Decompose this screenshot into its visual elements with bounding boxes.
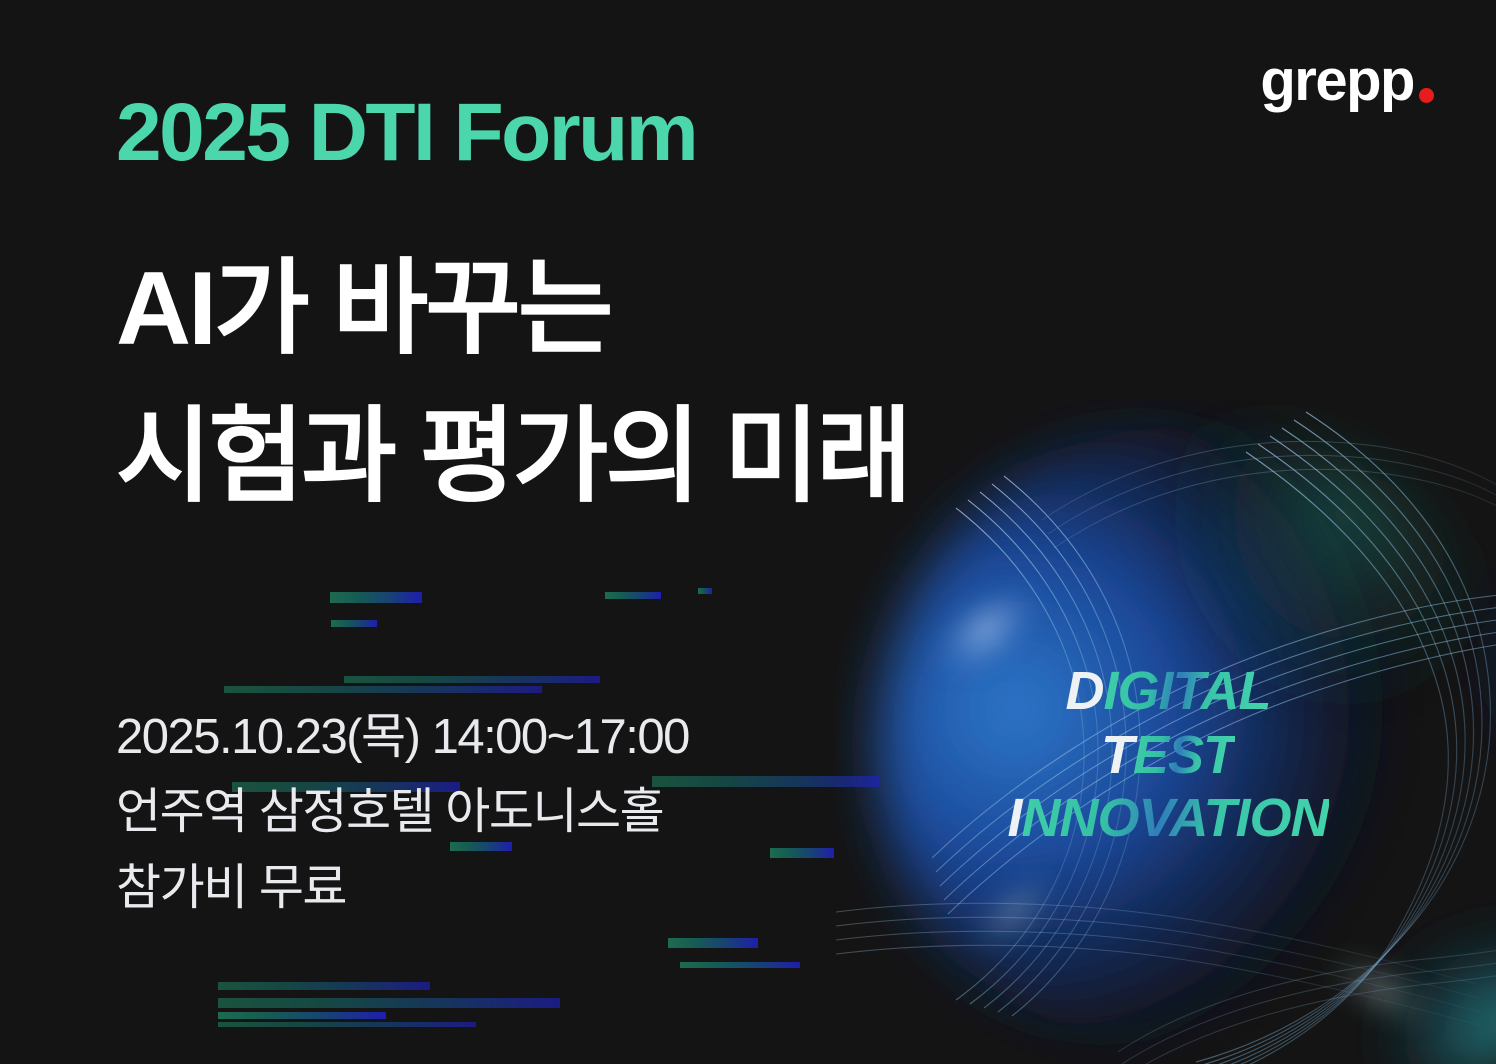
data-streak: [605, 592, 661, 599]
tagline-rest-innovation: NNOVATION: [1022, 788, 1329, 848]
data-streak: [680, 962, 800, 968]
tagline-line-digital: DIGITAL: [968, 660, 1368, 724]
headline-line-1: AI가 바꾸는: [116, 236, 909, 384]
tagline-lead-t: T: [1101, 725, 1133, 785]
data-streak: [218, 982, 430, 990]
event-venue: 언주역 삼정호텔 아도니스홀: [116, 775, 689, 850]
event-details: 2025.10.23(목) 14:00~17:00 언주역 삼정호텔 아도니스홀…: [116, 700, 689, 926]
tagline-line-test: TEST: [968, 724, 1368, 788]
forum-title: 2025 DTI Forum: [116, 92, 696, 174]
data-streak: [218, 1022, 476, 1027]
data-streak: [224, 686, 542, 693]
tagline-rest-digital: IGITAL: [1104, 661, 1271, 721]
tagline-rest-test: EST: [1133, 725, 1235, 785]
event-fee: 참가비 무료: [116, 851, 689, 926]
headline-line-2: 시험과 평가의 미래: [116, 384, 909, 532]
data-streak: [331, 620, 377, 627]
grepp-logo-dot: [1419, 88, 1434, 103]
data-streak: [698, 588, 712, 594]
grepp-wordmark: grepp: [1260, 52, 1414, 110]
data-streak: [770, 848, 834, 858]
tagline-block: DIGITAL TEST INNOVATION: [968, 660, 1368, 851]
main-headline: AI가 바꾸는 시험과 평가의 미래: [116, 236, 909, 531]
tagline-lead-i: I: [1008, 788, 1022, 848]
data-streak: [344, 676, 600, 683]
tagline-lead-d: D: [1066, 661, 1104, 721]
data-streak: [330, 592, 422, 603]
data-streak: [668, 938, 758, 948]
tagline-line-innovation: INNOVATION: [968, 787, 1368, 851]
poster-canvas: grepp 2025 DTI Forum AI가 바꾸는 시험과 평가의 미래 …: [0, 0, 1496, 1064]
data-streak: [218, 1012, 386, 1019]
grepp-logo: grepp: [1260, 52, 1434, 110]
event-datetime: 2025.10.23(목) 14:00~17:00: [116, 700, 689, 775]
data-streak: [218, 998, 560, 1008]
